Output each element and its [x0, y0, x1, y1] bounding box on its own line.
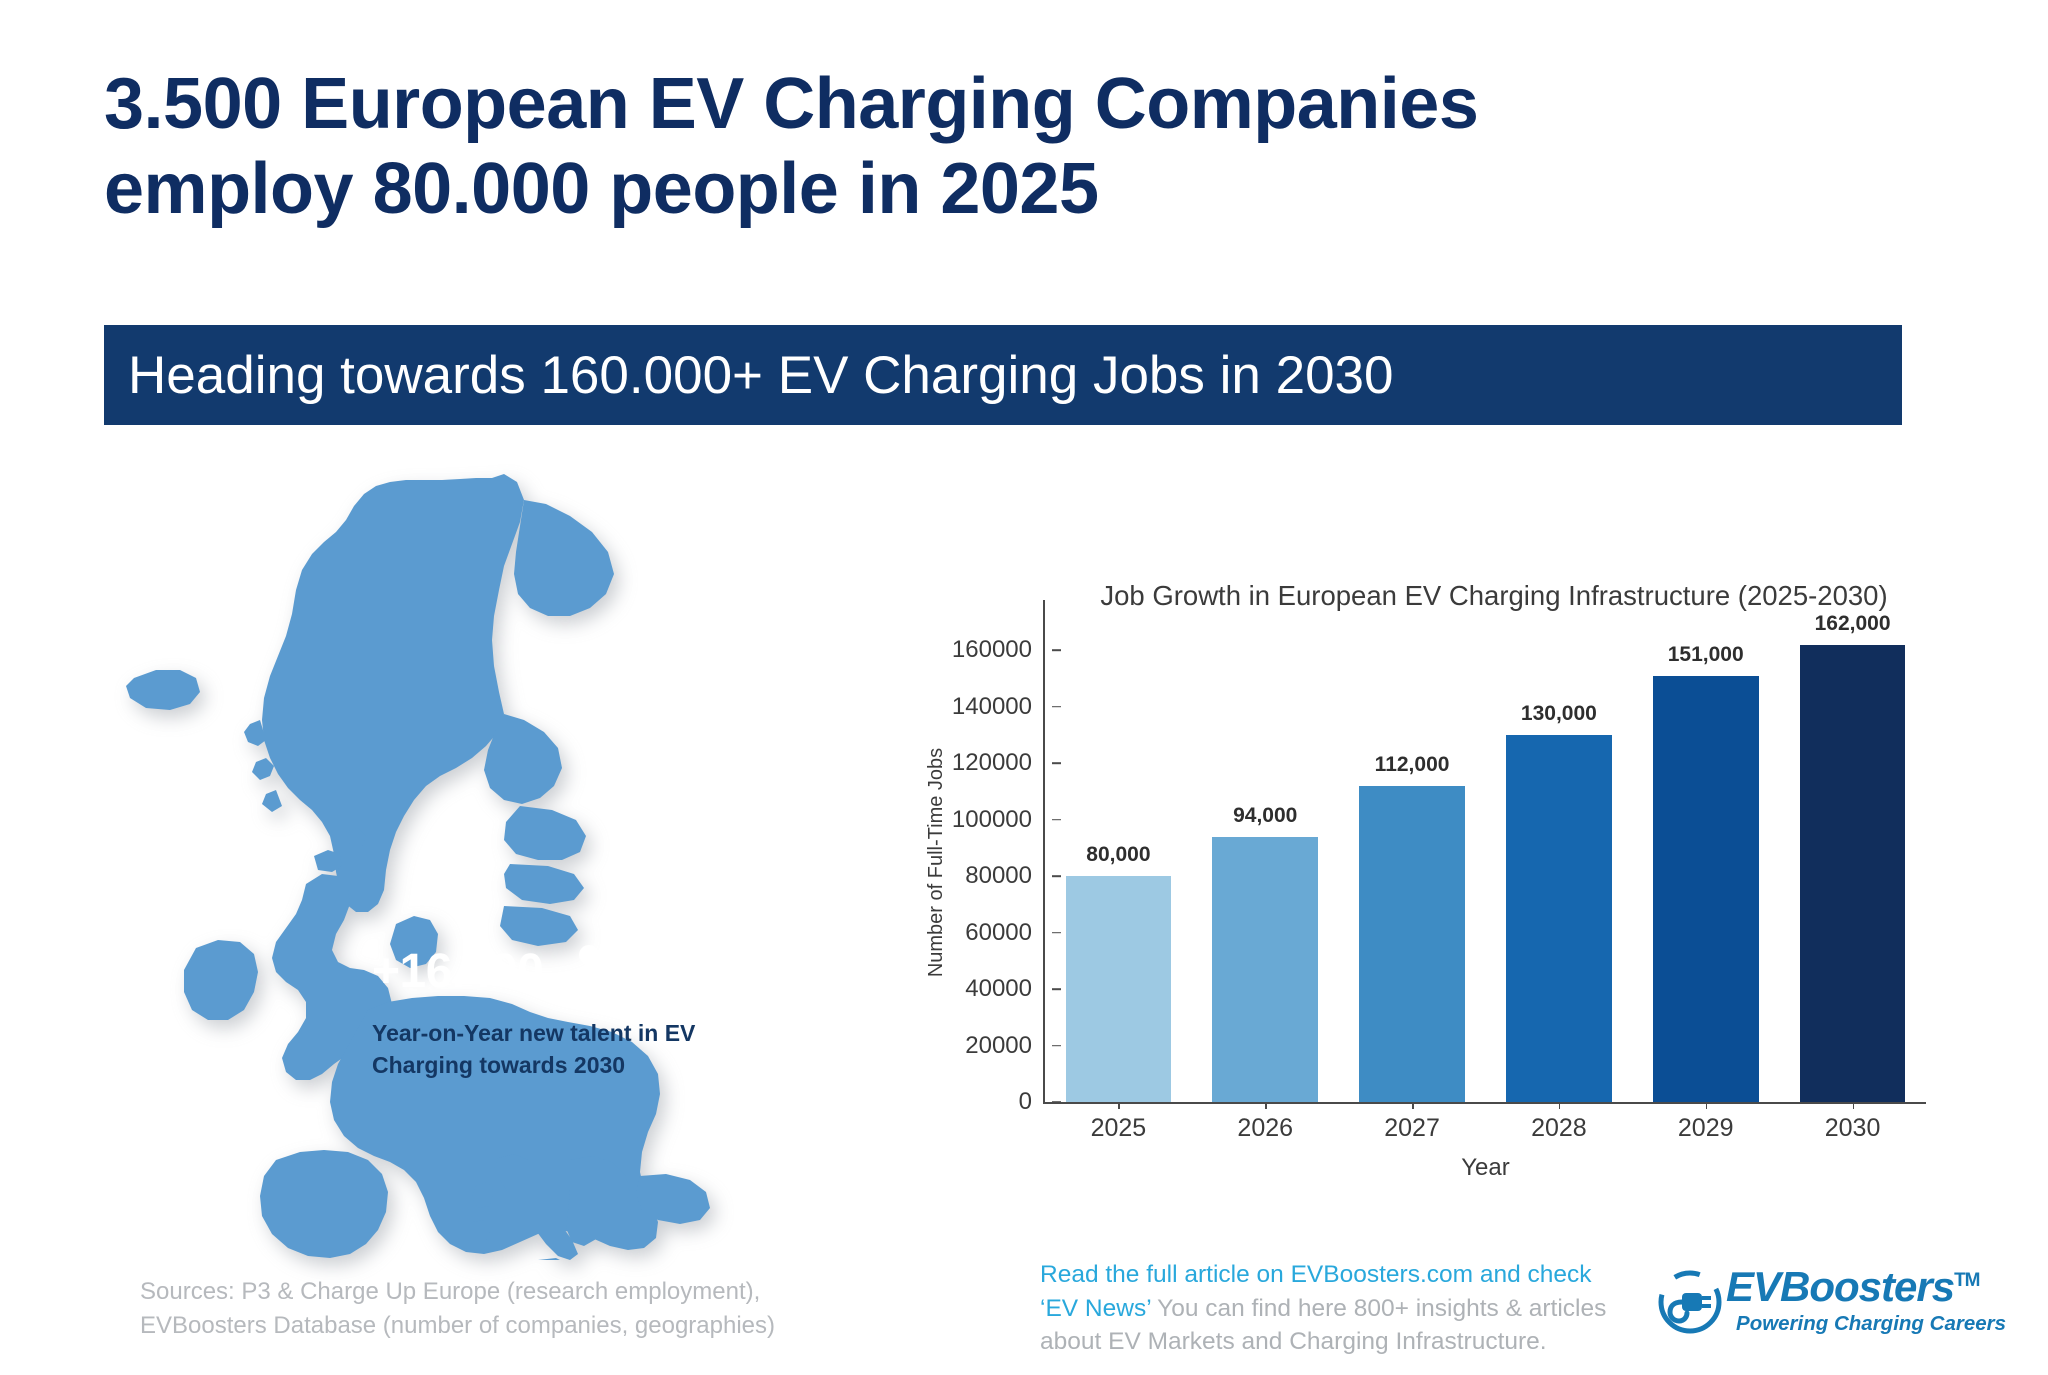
- chart-title: Job Growth in European EV Charging Infra…: [1018, 580, 1970, 612]
- y-tick-label: 60000: [965, 919, 1032, 947]
- bar-value-label: 112,000: [1375, 753, 1450, 777]
- logo-name: EVBoostersTM: [1726, 1266, 2006, 1308]
- y-axis-label: Number of Full-Time Jobs: [922, 622, 952, 1102]
- bar-value-label: 80,000: [1086, 843, 1150, 867]
- x-tick-label: 2030: [1779, 1114, 1926, 1143]
- sources-line-2: EVBoosters Database (number of companies…: [140, 1309, 860, 1343]
- x-tick-label: 2029: [1632, 1114, 1779, 1143]
- bar-slot: 130,000: [1485, 622, 1632, 1102]
- x-tick-mark: [1412, 1102, 1414, 1109]
- bar-value-label: 94,000: [1233, 804, 1297, 828]
- callout-description: Year-on-Year new talent in EV Charging t…: [372, 1018, 702, 1081]
- sources-note: Sources: P3 & Charge Up Europe (research…: [140, 1275, 860, 1343]
- x-tick-mark: [1559, 1102, 1561, 1109]
- subtitle-banner-text: Heading towards 160.000+ EV Charging Job…: [104, 345, 1394, 406]
- bar[interactable]: 80,000: [1066, 876, 1172, 1102]
- logo-trademark: TM: [1954, 1270, 1979, 1291]
- x-tick-label: 2026: [1192, 1114, 1339, 1143]
- x-axis-label: Year: [1045, 1154, 1926, 1182]
- footer-link-evnews[interactable]: ‘EV News’: [1040, 1295, 1151, 1322]
- x-axis-tick-labels: 202520262027202820292030: [1045, 1114, 1926, 1143]
- chart-plot-area: Number of Full-Time Jobs 020000400006000…: [940, 622, 1970, 1182]
- y-tick-label: 20000: [965, 1032, 1032, 1060]
- x-tick-mark: [1118, 1102, 1120, 1109]
- bar-value-label: 151,000: [1668, 643, 1744, 667]
- y-tick-label: 100000: [952, 806, 1032, 834]
- bar-slot: 80,000: [1045, 622, 1192, 1102]
- y-tick-label: 120000: [952, 749, 1032, 777]
- footer-body-1: You can find here 800+ insights & articl…: [1151, 1295, 1607, 1322]
- bar[interactable]: 151,000: [1653, 676, 1759, 1102]
- x-axis-spine: [1043, 1102, 1926, 1104]
- evboosters-logo[interactable]: EVBoostersTM Powering Charging Careers: [1656, 1262, 2006, 1346]
- bar-slot: 162,000: [1779, 622, 1926, 1102]
- bar[interactable]: 112,000: [1359, 786, 1465, 1102]
- bar[interactable]: 130,000: [1506, 735, 1612, 1102]
- bar-slot: 94,000: [1192, 622, 1339, 1102]
- y-tick-label: 0: [1019, 1088, 1032, 1116]
- chart-bars: 80,00094,000112,000130,000151,000162,000: [1045, 622, 1926, 1102]
- bar[interactable]: 94,000: [1212, 837, 1318, 1102]
- footer-link[interactable]: Read the full article on EVBoosters.com …: [1040, 1261, 1592, 1288]
- x-tick-label: 2027: [1339, 1114, 1486, 1143]
- x-tick-mark: [1706, 1102, 1708, 1109]
- headline-line-1: 3.500 European EV Charging Companies: [104, 62, 1924, 147]
- people-group-icon: [571, 942, 649, 1002]
- x-tick-label: 2028: [1485, 1114, 1632, 1143]
- bar-value-label: 130,000: [1521, 702, 1597, 726]
- page-title: 3.500 European EV Charging Companies emp…: [104, 62, 1924, 232]
- x-tick-mark: [1265, 1102, 1267, 1109]
- map-callout: +16.400 Year-on-Year new talent in EV Ch…: [372, 942, 802, 1081]
- logo-wordmark: EVBoostersTM Powering Charging Careers: [1726, 1266, 2006, 1336]
- bar[interactable]: 162,000: [1800, 645, 1906, 1102]
- bar-slot: 112,000: [1339, 622, 1486, 1102]
- bar-slot: 151,000: [1632, 622, 1779, 1102]
- y-tick-label: 80000: [965, 862, 1032, 890]
- callout-value: +16.400: [372, 948, 543, 996]
- x-tick-mark: [1853, 1102, 1855, 1109]
- sources-line-1: Sources: P3 & Charge Up Europe (research…: [140, 1275, 860, 1309]
- y-tick-label: 160000: [952, 636, 1032, 664]
- headline-line-2: employ 80.000 people in 2025: [104, 147, 1924, 232]
- footer-note: Read the full article on EVBoosters.com …: [1040, 1258, 1640, 1359]
- europe-map: [100, 470, 890, 1260]
- y-tick-label: 40000: [965, 975, 1032, 1003]
- logo-tagline: Powering Charging Careers: [1726, 1312, 2006, 1336]
- x-tick-label: 2025: [1045, 1114, 1192, 1143]
- y-axis-ticks: 0200004000060000800001000001200001400001…: [950, 622, 1042, 1102]
- y-tick-label: 140000: [952, 693, 1032, 721]
- map-panel: +16.400 Year-on-Year new talent in EV Ch…: [100, 470, 890, 1260]
- plug-circle-icon: [1656, 1268, 1724, 1336]
- footer-body-2: about EV Markets and Charging Infrastruc…: [1040, 1328, 1547, 1355]
- bar-chart: Job Growth in European EV Charging Infra…: [940, 580, 1970, 1230]
- bar-value-label: 162,000: [1815, 612, 1891, 636]
- subtitle-banner: Heading towards 160.000+ EV Charging Job…: [104, 325, 1902, 425]
- logo-name-text: EVBoosters: [1726, 1263, 1954, 1310]
